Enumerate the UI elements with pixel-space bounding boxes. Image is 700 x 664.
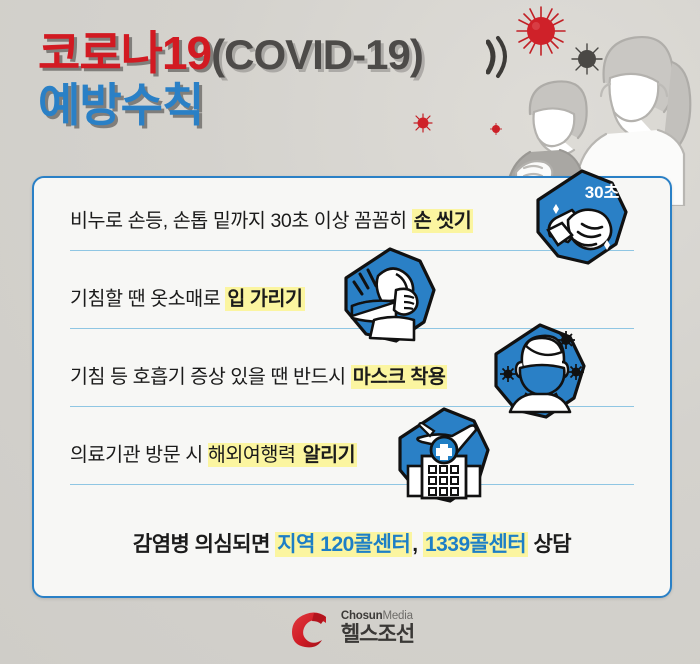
prevention-rules-panel: 비누로 손등, 손톱 밑까지 30초 이상 꼼꼼히 손 씻기 3 bbox=[32, 176, 672, 598]
cough-into-sleeve-icon bbox=[338, 244, 442, 353]
row-divider bbox=[70, 484, 634, 485]
virus-particle-red-large-icon bbox=[514, 4, 568, 58]
title-line-1: 코로나19(COVID-19) bbox=[38, 28, 423, 80]
cta-lead: 감염병 의심되면 bbox=[133, 533, 275, 556]
rule-highlight-1: 손 씻기 bbox=[412, 209, 474, 233]
rule-text-3: 기침 등 호흡기 증상 있을 땐 반드시 마스크 착용 bbox=[70, 360, 447, 389]
cta-call-center-2: 1339콜센터 bbox=[423, 532, 528, 557]
hand-washing-icon: 30초 bbox=[530, 166, 634, 275]
cta-separator: , bbox=[412, 533, 423, 556]
cta-tail: 상담 bbox=[528, 533, 571, 556]
title-english: (COVID-19) bbox=[211, 31, 423, 78]
rule-prefix-4: 의료기관 방문 시 bbox=[70, 444, 208, 466]
poster-title: 코로나19(COVID-19) 예방수칙 bbox=[38, 28, 423, 130]
brand-korean: 헬스조선 bbox=[341, 624, 414, 645]
footer-logo: ChosunMedia 헬스조선 bbox=[0, 608, 700, 648]
call-center-cta: 감염병 의심되면 지역 120콜센터, 1339콜센터 상담 bbox=[34, 528, 670, 558]
rule-text-1: 비누로 손등, 손톱 밑까지 30초 이상 꼼꼼히 손 씻기 bbox=[70, 204, 473, 233]
virus-particle-tiny-icon bbox=[489, 122, 503, 136]
rule-prefix-2: 기침할 땐 옷소매로 bbox=[70, 288, 225, 310]
footer-brand-text: ChosunMedia 헬스조선 bbox=[341, 611, 414, 646]
brand-english: ChosunMedia bbox=[341, 611, 414, 623]
rule-prefix-3: 기침 등 호흡기 증상 있을 땐 반드시 bbox=[70, 366, 351, 388]
title-line-2: 예방수칙 bbox=[38, 80, 423, 130]
rule-highlight-2: 입 가리기 bbox=[225, 287, 304, 311]
brand-english-light: Media bbox=[382, 610, 412, 622]
face-mask-icon bbox=[488, 320, 592, 429]
rules-list: 비누로 손등, 손톱 밑까지 30초 이상 꼼꼼히 손 씻기 3 bbox=[34, 178, 670, 490]
infographic-poster: 코로나19(COVID-19) 예방수칙 비누로 손등, 손톱 밑까지 30초 … bbox=[0, 0, 700, 664]
icon-badge-seconds: 30초 bbox=[585, 183, 620, 202]
rule-highlight-4: 알리기 bbox=[301, 443, 358, 467]
chosun-media-c-logo-icon bbox=[286, 608, 332, 648]
hospital-travel-icon bbox=[392, 404, 496, 513]
rule-text-4: 의료기관 방문 시 해외여행력 알리기 bbox=[70, 438, 357, 467]
cta-call-center-1: 지역 120콜센터 bbox=[275, 532, 412, 557]
rule-highlight-3: 마스크 착용 bbox=[351, 365, 448, 389]
rule-highlight-plain-4: 해외여행력 bbox=[208, 443, 301, 467]
title-korean: 코로나19 bbox=[38, 27, 211, 79]
virus-particle-gray-icon bbox=[570, 42, 604, 76]
rule-text-2: 기침할 땐 옷소매로 입 가리기 bbox=[70, 282, 305, 311]
rule-prefix-1: 비누로 손등, 손톱 밑까지 30초 이상 꼼꼼히 bbox=[70, 210, 412, 232]
brand-english-bold: Chosun bbox=[341, 610, 383, 622]
